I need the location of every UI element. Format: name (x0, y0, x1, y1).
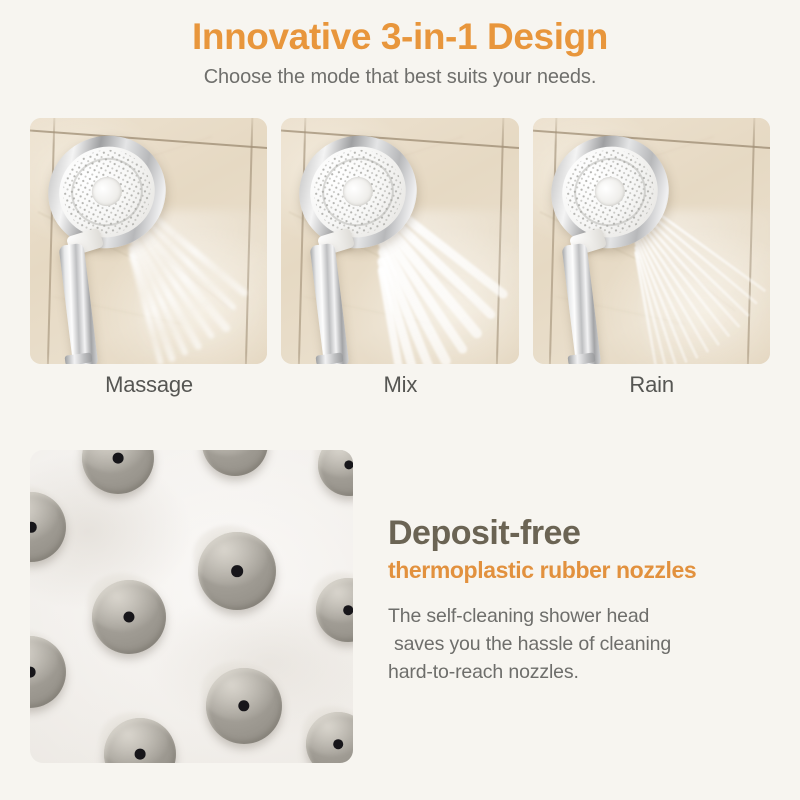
spray-modes-row: Massage (30, 118, 770, 364)
tile-grout-line (747, 118, 756, 364)
mode-label-rain: Rain (533, 372, 771, 398)
feature-body: The self-cleaning shower head saves you … (388, 602, 784, 687)
header: Innovative 3-in-1 Design Choose the mode… (0, 16, 800, 89)
page-subtitle: Choose the mode that best suits your nee… (0, 66, 800, 89)
feature-subtitle: thermoplastic rubber nozzles (388, 557, 784, 583)
mode-cell-mix: Mix (281, 118, 518, 364)
mode-photo-rain (533, 118, 770, 364)
handle-band (316, 352, 344, 364)
mode-cell-rain: Rain (533, 118, 770, 364)
shower-head-rain (541, 136, 691, 364)
handle-band (64, 352, 92, 364)
handle-band (567, 352, 595, 364)
product-feature-page: Innovative 3-in-1 Design Choose the mode… (0, 0, 800, 800)
shower-head-disc (34, 121, 180, 263)
rubber-nozzle (206, 668, 282, 744)
nozzle-closeup-photo (30, 450, 353, 763)
surface-shading (30, 450, 353, 763)
mode-label-mix: Mix (281, 372, 519, 398)
mode-label-massage: Massage (30, 372, 268, 398)
mode-cell-massage: Massage (30, 118, 267, 364)
rubber-nozzle (92, 580, 166, 654)
page-title: Innovative 3-in-1 Design (0, 16, 800, 59)
rubber-nozzle (306, 712, 353, 763)
feature-text-block: Deposit-free thermoplastic rubber nozzle… (388, 515, 784, 687)
shower-head-disc (537, 121, 683, 263)
feature-body-line-1: The self-cleaning shower head (388, 602, 784, 630)
feature-body-line-2: saves you the hassle of cleaning (388, 630, 784, 658)
rubber-nozzle (198, 532, 276, 610)
feature-title: Deposit-free (388, 515, 784, 552)
shower-head-massage (38, 136, 188, 364)
shower-handle (310, 243, 350, 364)
shower-head-disc (286, 121, 432, 263)
mode-photo-massage (30, 118, 267, 364)
feature-body-line-3: hard-to-reach nozzles. (388, 658, 784, 686)
tile-grout-line (495, 118, 504, 364)
mode-photo-mix (281, 118, 518, 364)
shower-handle (561, 243, 601, 364)
shower-handle (59, 243, 99, 364)
shower-head-mix (289, 136, 439, 364)
tile-grout-line (244, 118, 253, 364)
